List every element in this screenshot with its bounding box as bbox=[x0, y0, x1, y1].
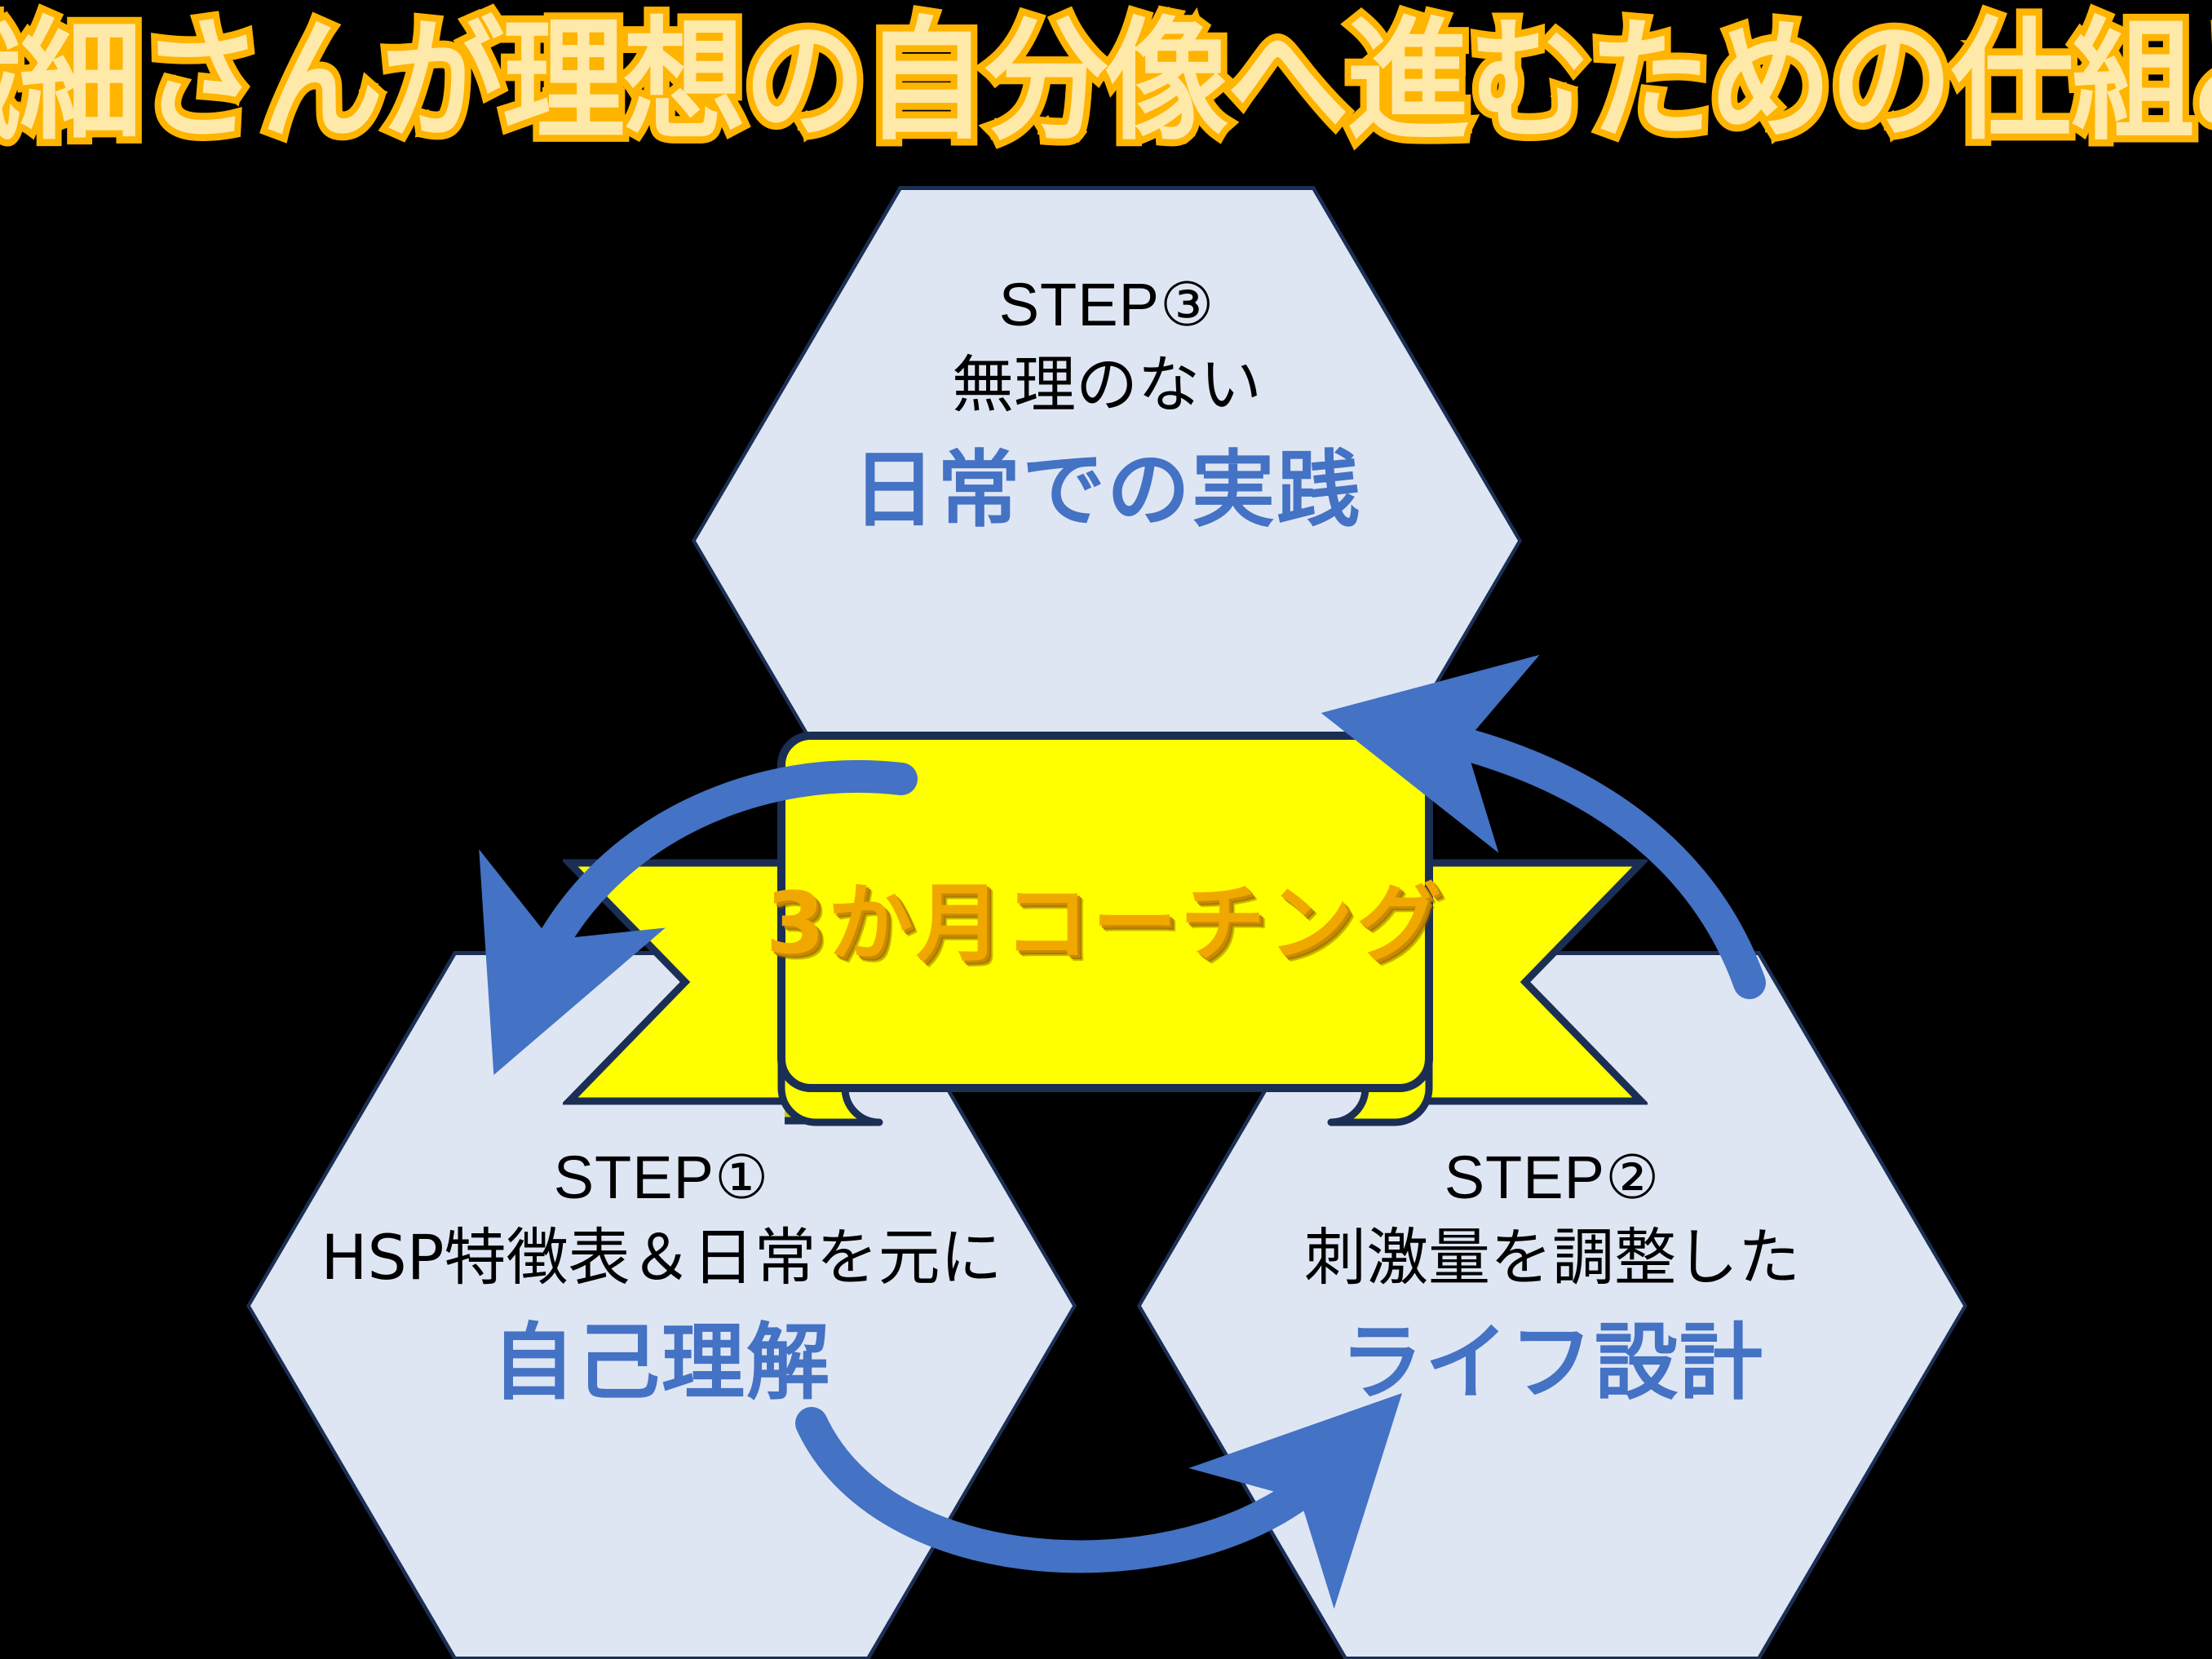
slide-canvas: STEP③ 無理のない 日常での実践 STEP① HSP特徴表＆日常を元に 自己… bbox=[0, 0, 2212, 1659]
title-bar: 繊細さんが理想の自分像へ進むための仕組み bbox=[0, 0, 2212, 163]
page-title: 繊細さんが理想の自分像へ進むための仕組み bbox=[0, 15, 2212, 148]
ribbon-left-tail bbox=[569, 863, 807, 1101]
ribbon-main-panel bbox=[781, 736, 1429, 1088]
ribbon-banner[interactable] bbox=[563, 726, 1648, 1134]
ribbon-right-tail bbox=[1403, 863, 1641, 1101]
